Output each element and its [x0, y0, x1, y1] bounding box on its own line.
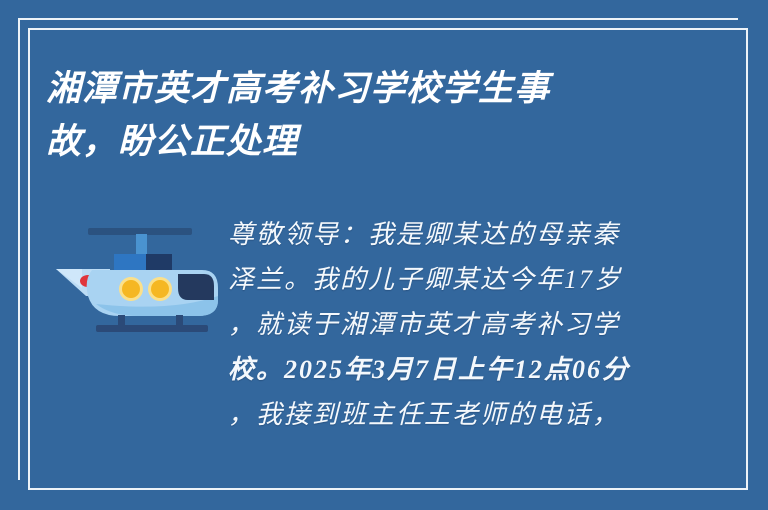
- cockpit-window-icon: [178, 274, 214, 300]
- rotor-mast-icon: [136, 234, 147, 256]
- poster-canvas: 湘潭市英才高考补习学校学生事 故，盼公正处理: [0, 0, 768, 510]
- title-line-2: 故，盼公正处理: [46, 115, 606, 168]
- article-line-2: 泽兰。我的儿子卿某达今年17岁: [228, 257, 664, 302]
- porthole-2-icon: [151, 280, 169, 298]
- rotor-blade-icon: [88, 228, 192, 235]
- skid-strut-right-icon: [176, 315, 183, 326]
- engine-box-left-icon: [114, 254, 146, 270]
- title-line-1: 湘潭市英才高考补习学校学生事: [46, 62, 606, 115]
- porthole-1-icon: [122, 280, 140, 298]
- skid-strut-left-icon: [118, 315, 125, 326]
- article-line-3: ，就读于湘潭市英才高考补习学: [228, 302, 664, 347]
- article-body: 尊敬领导：我是卿某达的母亲秦 泽兰。我的儿子卿某达今年17岁 ，就读于湘潭市英才…: [228, 212, 664, 437]
- article-line-5: ，我接到班主任王老师的电话，: [228, 392, 664, 437]
- skid-bar-icon: [96, 325, 208, 332]
- helicopter-illustration: [52, 216, 224, 336]
- article-line-1: 尊敬领导：我是卿某达的母亲秦: [228, 212, 664, 257]
- engine-box-right-icon: [146, 254, 172, 271]
- article-line-4: 校。2025年3月7日上午12点06分: [228, 347, 664, 392]
- page-title: 湘潭市英才高考补习学校学生事 故，盼公正处理: [46, 62, 606, 168]
